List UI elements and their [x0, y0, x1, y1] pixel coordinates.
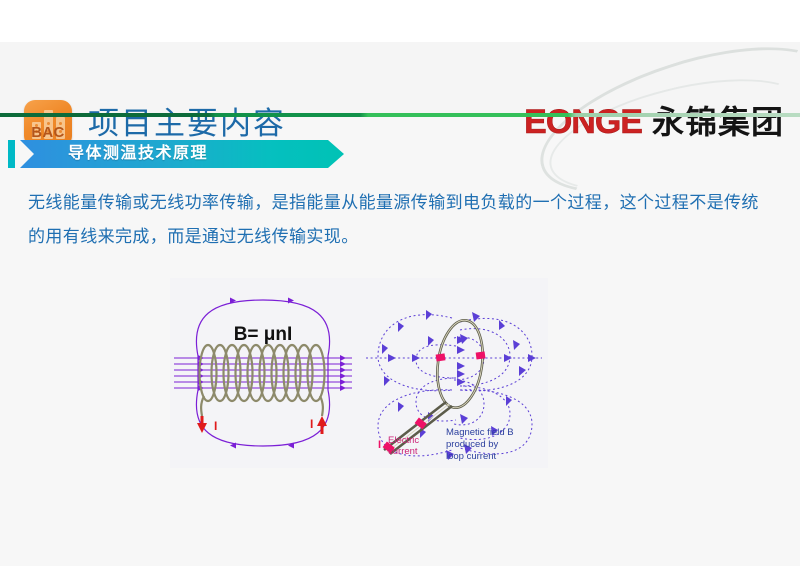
magnetic-field-caption-line3: loop current — [446, 451, 497, 462]
brand-name-en: EONGE — [524, 104, 642, 140]
solenoid-formula-label: B= μnI — [234, 324, 293, 345]
body-paragraph: 无线能量传输或无线功率传输，是指能量从能量源传输到电负载的一个过程，这个过程不是… — [28, 186, 774, 254]
solenoid-magnetic-field-diagram: I I B= μnI — [170, 278, 356, 468]
brand-name-cn: 永锦集团 — [652, 104, 784, 140]
top-white-strip — [0, 0, 800, 42]
figure-group: I I B= μnI — [170, 278, 548, 468]
slide-root: BAC 项目主要内容 EONGE 永锦集团 导体测温技术原理 无线能量传输或无线… — [0, 0, 800, 566]
electric-current-caption-line1: Electric — [388, 435, 419, 446]
current-loop-svg: I Electric current Magnetic field B prod… — [360, 278, 548, 468]
section-banner-shape: 导体测温技术原理 — [20, 140, 344, 168]
page-title: 项目主要内容 — [88, 104, 286, 144]
solenoid-current-label-left: I — [214, 419, 217, 433]
company-brand-logo: EONGE 永锦集团 — [524, 104, 784, 140]
header-divider-rule — [0, 113, 800, 117]
solenoid-svg: I I B= μnI — [170, 278, 356, 468]
section-banner-label: 导体测温技术原理 — [68, 140, 208, 168]
slide-header: BAC 项目主要内容 EONGE 永锦集团 — [0, 42, 800, 114]
section-banner-tick — [8, 140, 15, 168]
magnetic-field-caption-line2: produced by — [446, 439, 499, 450]
bac-logo-text: BAC — [24, 125, 72, 140]
bac-logo: BAC — [24, 100, 72, 147]
electric-current-caption-line2: current — [388, 446, 418, 457]
solenoid-current-label-right: I — [310, 417, 313, 431]
loop-current-symbol: I — [378, 439, 381, 451]
magnetic-field-caption-line1: Magnetic field B — [446, 427, 514, 438]
current-loop-magnetic-field-diagram: I Electric current Magnetic field B prod… — [360, 278, 548, 468]
